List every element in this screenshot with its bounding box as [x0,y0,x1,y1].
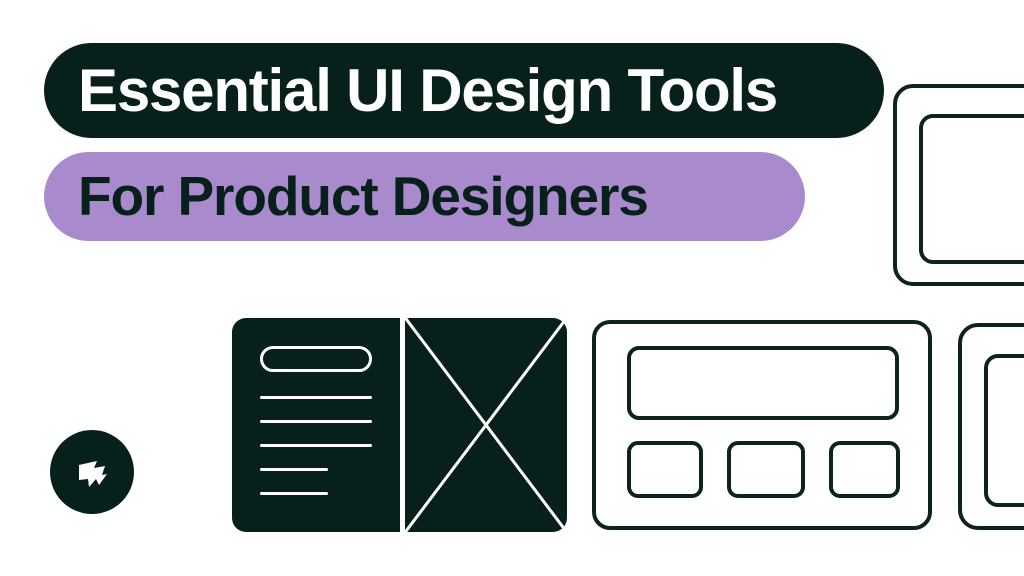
wireframe-device-screen [984,354,1024,507]
wireframe-button [829,441,900,498]
graphic-canvas: Essential UI Design Tools For Product De… [0,0,1024,576]
page-title: Essential UI Design Tools [78,61,777,121]
lightning-bolt-icon [69,449,115,495]
wireframe-image-panel [405,318,567,532]
wireframe-button [627,441,703,498]
wireframe-button [727,441,805,498]
wireframe-device-screen [919,114,1024,264]
brand-logo[interactable] [50,430,134,514]
subtitle-pill: For Product Designers [44,152,805,241]
wireframe-text-line [260,492,328,495]
wireframe-hero-block [627,346,899,420]
wireframe-search-field [260,346,372,372]
wireframe-text-line [260,468,328,471]
wireframe-text-line [260,420,372,423]
wireframe-device-frame-top [893,84,1024,286]
wireframe-text-line [260,444,372,447]
wireframe-list-card [232,318,400,532]
title-pill: Essential UI Design Tools [44,43,884,138]
wireframe-device-frame-bottom [958,323,1024,530]
wireframe-text-line [260,396,372,399]
page-subtitle: For Product Designers [78,169,648,224]
wireframe-outline-card [592,320,932,530]
